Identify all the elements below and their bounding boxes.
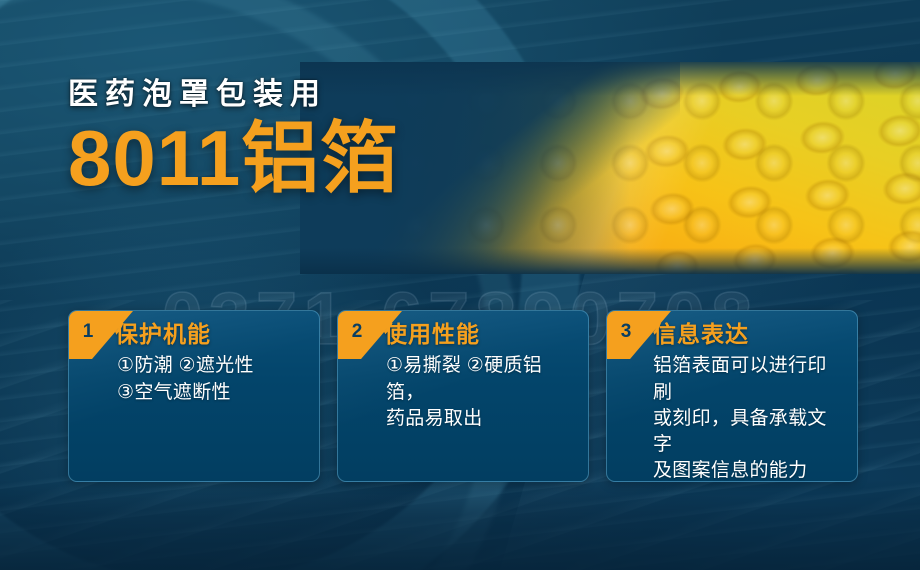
card-number: 2 [338,311,376,353]
promo-banner: 0371-67890708 医药泡罩包装用 8011铝箔 1 保护机能 ①防潮 … [0,0,920,570]
footer-gradient [0,480,920,570]
card-title: 信息表达 [653,321,845,347]
photo-bottom-fade [300,248,920,274]
card-number: 3 [607,311,645,353]
card-title: 保护机能 [115,321,307,347]
feature-card-list: 1 保护机能 ①防潮 ②遮光性 ③空气遮断性 2 使用性能 ①易撕裂 ②硬质铝箔… [68,310,858,482]
card-title: 使用性能 [384,321,576,347]
headline-block: 医药泡罩包装用 8011铝箔 [68,78,399,200]
card-text: 铝箔表面可以进行印刷 或刻印，具备承载文字 及图案信息的能力 [653,353,845,482]
headline-subtitle: 医药泡罩包装用 [68,78,399,111]
card-text: ①防潮 ②遮光性 ③空气遮断性 [115,353,307,405]
feature-card[interactable]: 3 信息表达 铝箔表面可以进行印刷 或刻印，具备承载文字 及图案信息的能力 [606,310,858,482]
card-number: 1 [69,311,107,353]
feature-card[interactable]: 2 使用性能 ①易撕裂 ②硬质铝箔， 药品易取出 [337,310,589,482]
headline-title: 8011铝箔 [68,117,399,200]
feature-card[interactable]: 1 保护机能 ①防潮 ②遮光性 ③空气遮断性 [68,310,320,482]
card-text: ①易撕裂 ②硬质铝箔， 药品易取出 [384,353,576,432]
